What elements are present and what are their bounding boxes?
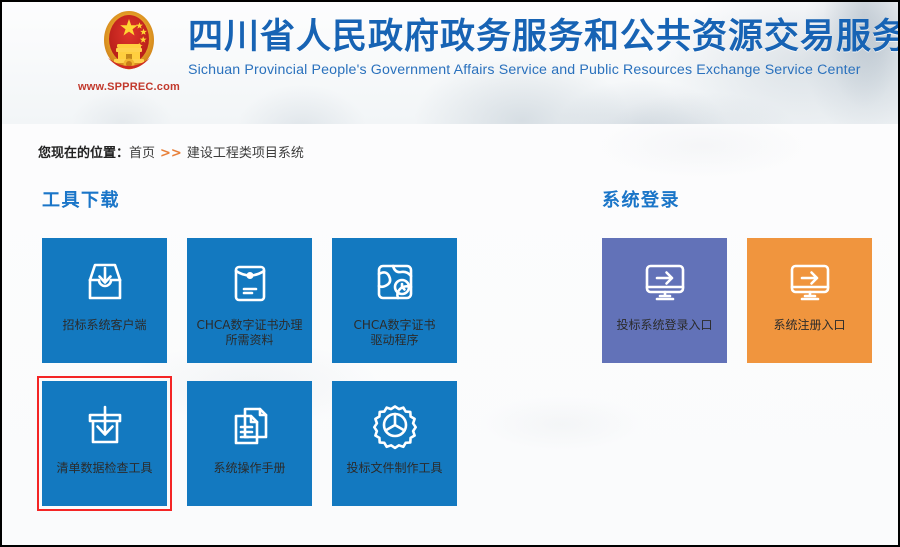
site-header: www.SPPREC.com 四川省人民政府政务服务和公共资源交易服务中心 Si… <box>2 2 898 124</box>
tile-label: 招标系统客户端 <box>46 318 164 333</box>
tile-system-operation-manual[interactable]: 系统操作手册 <box>187 381 312 506</box>
download-box-icon <box>79 399 131 451</box>
breadcrumb-home-link[interactable]: 首页 <box>129 146 155 161</box>
tile-bidding-system-login-entry[interactable]: 投标系统登录入口 <box>602 238 727 363</box>
tile-label: 系统注册入口 <box>751 318 869 333</box>
breadcrumb-current: 建设工程类项目系统 <box>187 146 304 161</box>
tile-label: 投标文件制作工具 <box>336 461 454 476</box>
puzzle-driver-icon <box>369 256 421 308</box>
site-title-english: Sichuan Provincial People's Government A… <box>188 62 888 78</box>
monitor-enter-icon <box>639 256 691 308</box>
tile-label: 投标系统登录入口 <box>606 318 724 333</box>
emblem-block: www.SPPREC.com <box>74 8 184 93</box>
china-national-emblem-icon <box>98 8 160 80</box>
tile-system-registration-entry[interactable]: 系统注册入口 <box>747 238 872 363</box>
section-title-tools: 工具下载 <box>42 186 457 212</box>
login-tile-grid: 投标系统登录入口 系统注册入口 <box>602 238 872 363</box>
site-title-block: 四川省人民政府政务服务和公共资源交易服务中心 Sichuan Provincia… <box>188 15 888 78</box>
download-tray-icon <box>79 256 131 308</box>
section-system-login: 系统登录 投标系统登录入口 <box>602 186 872 363</box>
tool-tile-grid: 招标系统客户端 CHCA数字证书办理 所需资料 <box>42 238 457 506</box>
gear-wheel-icon <box>369 399 421 451</box>
section-title-login: 系统登录 <box>602 186 872 212</box>
page-root: www.SPPREC.com 四川省人民政府政务服务和公共资源交易服务中心 Si… <box>0 0 900 547</box>
breadcrumb-label: 您现在的位置： <box>38 146 129 161</box>
tile-chca-certificate-driver[interactable]: CHCA数字证书 驱动程序 <box>332 238 457 363</box>
page-content: 您现在的位置：首页>>建设工程类项目系统 工具下载 招标系统客户端 <box>2 124 898 545</box>
site-url-text: www.SPPREC.com <box>74 81 184 93</box>
envelope-folder-icon <box>224 256 276 308</box>
site-title-chinese: 四川省人民政府政务服务和公共资源交易服务中心 <box>188 15 888 59</box>
tile-label: CHCA数字证书办理 所需资料 <box>191 318 309 348</box>
tile-label: CHCA数字证书 驱动程序 <box>336 318 454 348</box>
tile-bid-document-maker[interactable]: 投标文件制作工具 <box>332 381 457 506</box>
tile-bidding-system-client[interactable]: 招标系统客户端 <box>42 238 167 363</box>
section-tool-download: 工具下载 招标系统客户端 <box>42 186 457 506</box>
tile-label: 系统操作手册 <box>191 461 309 476</box>
monitor-enter-icon <box>784 256 836 308</box>
breadcrumb: 您现在的位置：首页>>建设工程类项目系统 <box>38 142 304 161</box>
documents-icon <box>224 399 276 451</box>
tile-list-data-check-tool[interactable]: 清单数据检查工具 <box>42 381 167 506</box>
tile-label: 清单数据检查工具 <box>46 461 164 476</box>
tile-chca-certificate-materials[interactable]: CHCA数字证书办理 所需资料 <box>187 238 312 363</box>
breadcrumb-separator-icon: >> <box>160 146 182 161</box>
